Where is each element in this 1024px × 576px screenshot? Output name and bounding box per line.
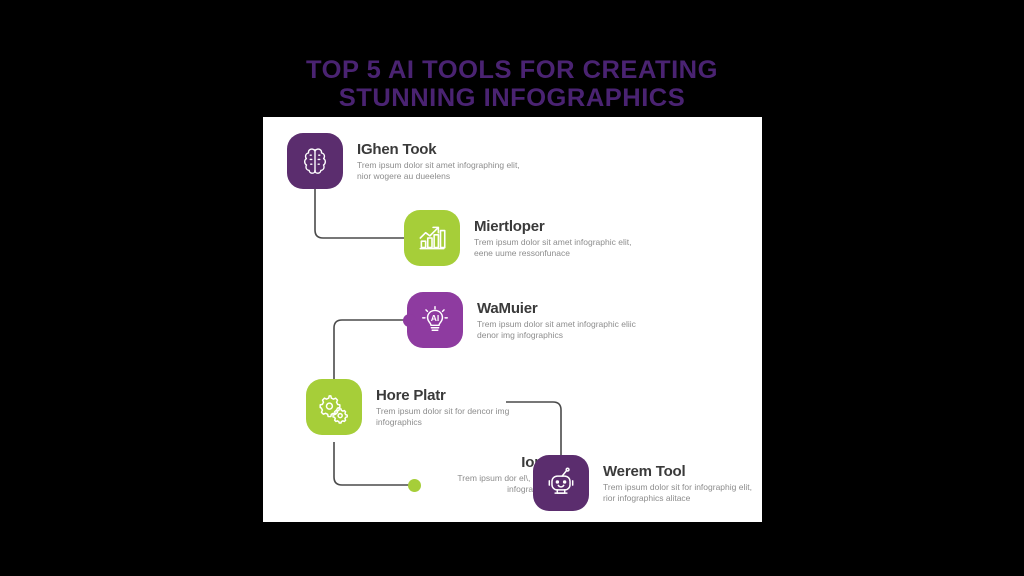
item-text-wamuier: WaMuier Trem ipsum dolor sit amet infogr… bbox=[477, 300, 642, 341]
svg-text:AI: AI bbox=[431, 313, 440, 323]
list-item-miertloper[interactable]: Miertloper Trem ipsum dolor sit amet inf… bbox=[404, 210, 639, 266]
list-item-hore-platr[interactable]: Hore Platr Trem ipsum dolor sit for denc… bbox=[306, 379, 541, 435]
item-text-hore-platr: Hore Platr Trem ipsum dolor sit for denc… bbox=[376, 387, 541, 428]
page-title: Top 5 AI Tools for Creating Stunning Inf… bbox=[0, 56, 1024, 112]
item-body: Trem ipsum dolor sit amet infographic el… bbox=[477, 319, 642, 341]
bar-chart-growth-icon bbox=[404, 210, 460, 266]
list-item-wamuier[interactable]: AI WaMuier Trem ipsum dolor sit amet inf… bbox=[407, 292, 642, 348]
brain-icon bbox=[287, 133, 343, 189]
list-item-werem-tool[interactable]: Werem Tool Trem ipsum dolor sit for info… bbox=[533, 455, 762, 511]
infographic-canvas: Top 5 AI Tools for Creating Stunning Inf… bbox=[0, 0, 1024, 576]
item-body: Trem ipsum dolor sit for dencor img info… bbox=[376, 406, 541, 428]
item-text-miertloper: Miertloper Trem ipsum dolor sit amet inf… bbox=[474, 218, 639, 259]
item-text-werem-tool: Werem Tool Trem ipsum dolor sit for info… bbox=[603, 463, 762, 504]
item-body: Trem ipsum dolor sit amet infographing e… bbox=[357, 160, 522, 182]
item-title: Werem Tool bbox=[603, 463, 762, 480]
item-title: IGhen Took bbox=[357, 141, 522, 158]
robot-icon bbox=[533, 455, 589, 511]
gears-icon bbox=[306, 379, 362, 435]
page-title-line-1: Top 5 AI Tools for Creating bbox=[306, 56, 718, 84]
connector-1-2 bbox=[315, 189, 404, 238]
item-title: WaMuier bbox=[477, 300, 642, 317]
connector-dot-wamuier bbox=[403, 314, 416, 327]
infographic-card: IGhen Took Trem ipsum dolor sit amet inf… bbox=[263, 117, 762, 522]
item-title: Miertloper bbox=[474, 218, 639, 235]
item-text-ighen-took: IGhen Took Trem ipsum dolor sit amet inf… bbox=[357, 141, 522, 182]
item-title: Hore Platr bbox=[376, 387, 541, 404]
list-item-ighen-took[interactable]: IGhen Took Trem ipsum dolor sit amet inf… bbox=[287, 133, 522, 189]
page-title-line-2: Stunning Infographics bbox=[0, 84, 1024, 112]
item-body: Trem ipsum dolor sit amet infographic el… bbox=[474, 237, 639, 259]
connector-3-4 bbox=[334, 320, 409, 379]
connector-dot-iorm bbox=[408, 479, 421, 492]
item-body: Trem ipsum dolor sit for infographig eli… bbox=[603, 482, 762, 504]
